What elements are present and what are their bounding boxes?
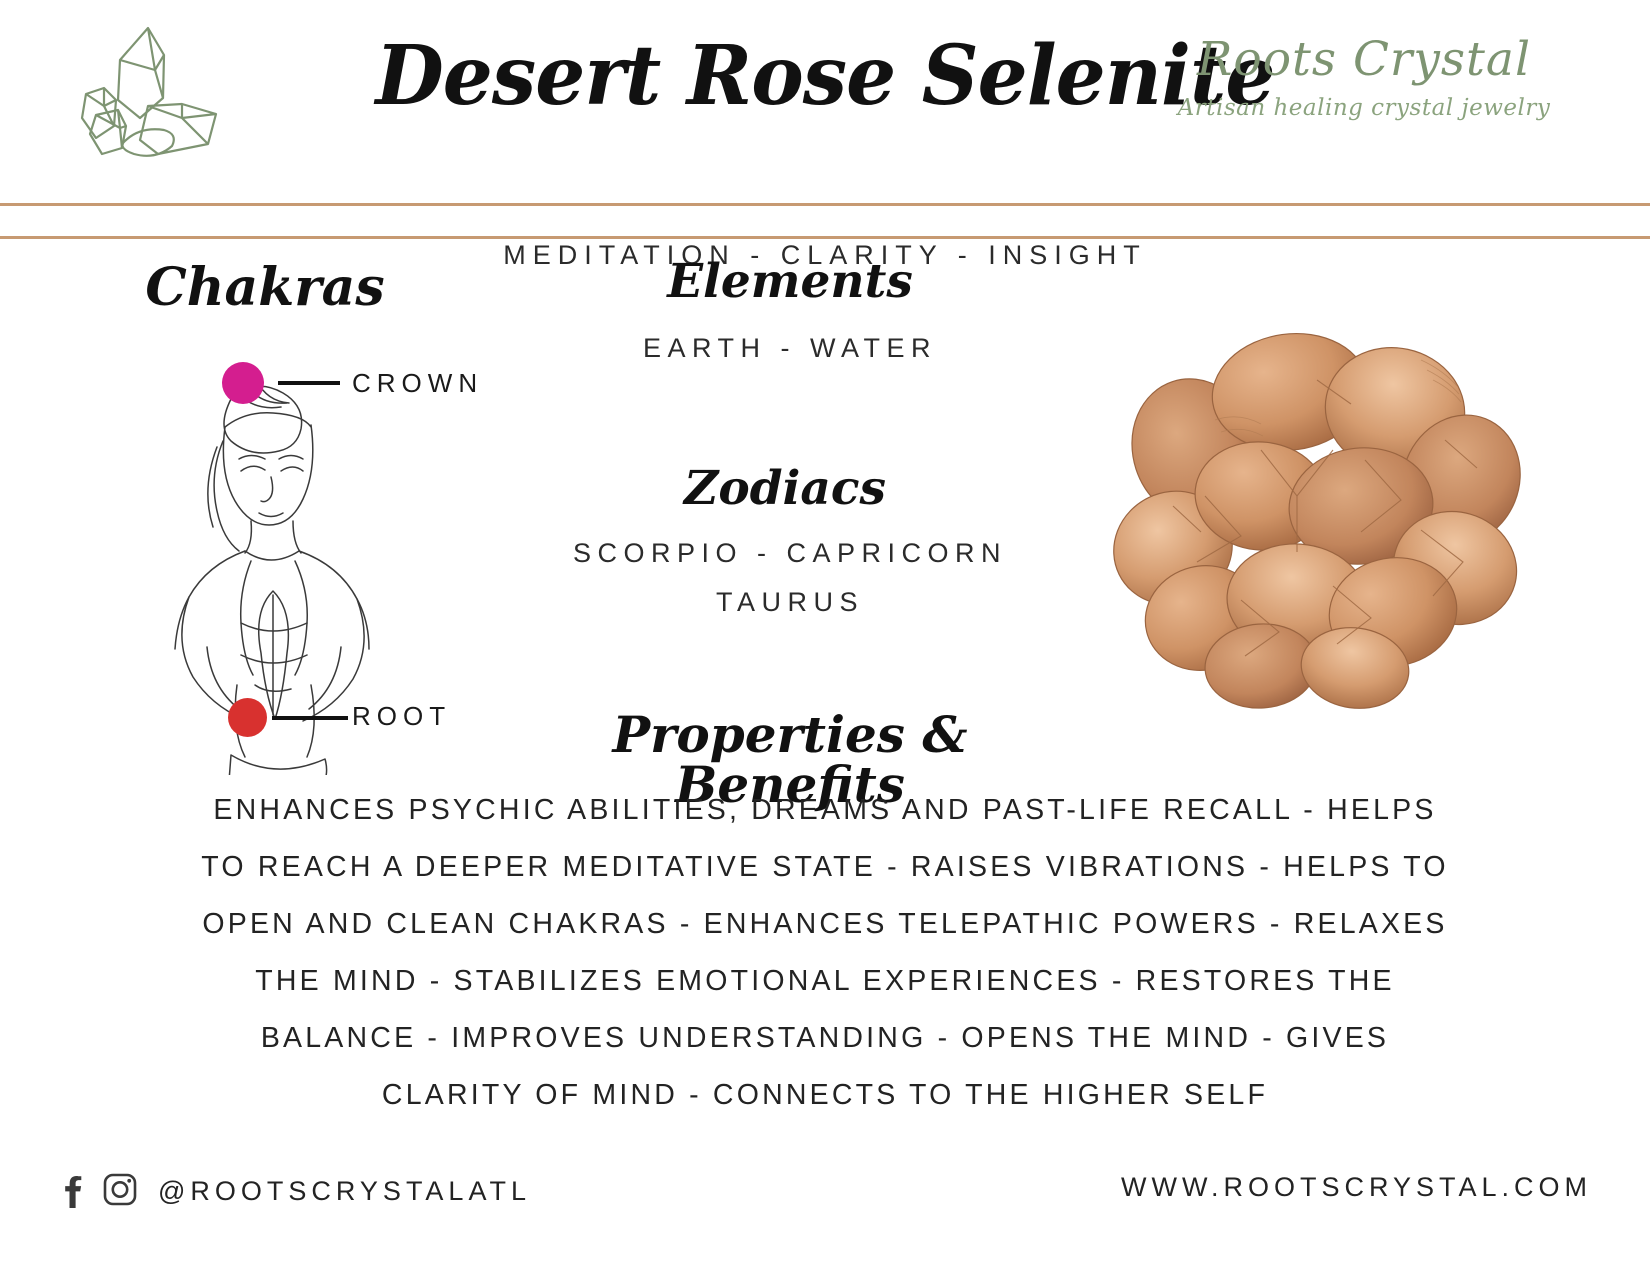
brand-name: Roots Crystal: [1124, 36, 1604, 83]
chakras-heading: Chakras: [135, 262, 395, 314]
facebook-icon[interactable]: [58, 1170, 88, 1213]
zodiacs-values: SCORPIO - CAPRICORN TAURUS: [520, 538, 1060, 618]
divider-top: [0, 203, 1650, 206]
brand-block: Roots Crystal Artisan healing crystal je…: [1124, 36, 1604, 121]
social-handle: @ROOTSCRYSTALATL: [158, 1176, 531, 1207]
chakra-marker-crown: [222, 362, 264, 404]
instagram-icon[interactable]: [102, 1171, 138, 1212]
leader-line-crown: [278, 381, 340, 385]
properties-line: TO REACH A DEEPER MEDITATIVE STATE - RAI…: [60, 839, 1590, 896]
properties-line: CLARITY OF MIND - CONNECTS TO THE HIGHER…: [60, 1067, 1590, 1124]
zodiacs-line: SCORPIO - CAPRICORN: [520, 538, 1060, 569]
brand-tagline: Artisan healing crystal jewelry: [1124, 95, 1604, 121]
chakra-label-crown: CROWN: [352, 368, 483, 399]
chakra-label-root: ROOT: [352, 701, 451, 732]
zodiacs-heading: Zodiacs: [655, 465, 915, 512]
desert-rose-selenite-photo: [1065, 300, 1530, 715]
footer-social: @ROOTSCRYSTALATL: [58, 1170, 531, 1213]
properties-line: ENHANCES PSYCHIC ABILITIES, DREAMS AND P…: [60, 782, 1590, 839]
divider-bottom: [0, 236, 1650, 239]
chakra-marker-root: [228, 698, 267, 737]
elements-value: EARTH - WATER: [600, 333, 980, 364]
leader-line-root: [272, 716, 348, 720]
zodiacs-line: TAURUS: [520, 587, 1060, 618]
properties-line: BALANCE - IMPROVES UNDERSTANDING - OPENS…: [60, 1010, 1590, 1067]
website-url: WWW.ROOTSCRYSTAL.COM: [1121, 1172, 1592, 1203]
elements-heading: Elements: [660, 258, 920, 305]
infographic-page: Desert Rose Selenite Roots Crystal Artis…: [0, 0, 1650, 1275]
properties-body: ENHANCES PSYCHIC ABILITIES, DREAMS AND P…: [60, 782, 1590, 1124]
properties-line: OPEN AND CLEAN CHAKRAS - ENHANCES TELEPA…: [60, 896, 1590, 953]
properties-line: THE MIND - STABILIZES EMOTIONAL EXPERIEN…: [60, 953, 1590, 1010]
